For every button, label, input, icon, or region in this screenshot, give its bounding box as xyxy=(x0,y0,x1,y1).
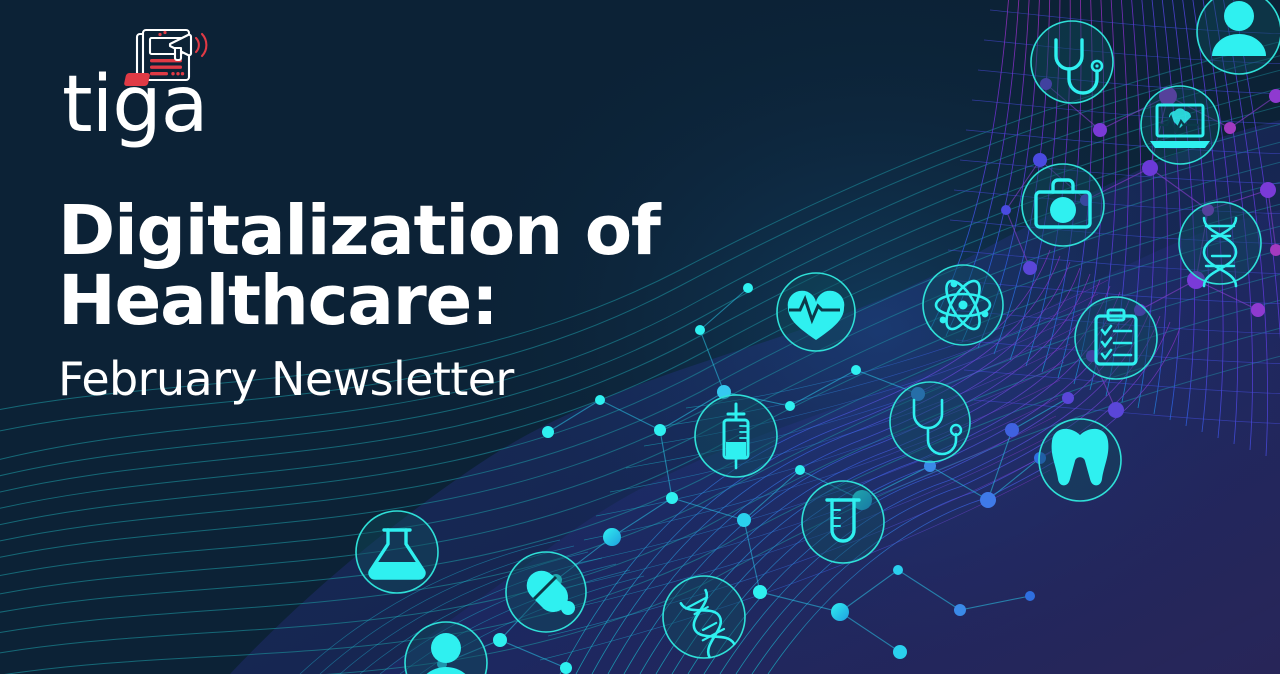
brand-accent-dot xyxy=(124,73,151,86)
laptop-heartbeat-icon xyxy=(1141,86,1219,164)
newsletter-banner: .bub{fill:#0f4b5c;fill-opacity:0.45;stro… xyxy=(0,0,1280,674)
page-title: Digitalization of Healthcare: xyxy=(58,196,678,336)
heart-pulse-icon xyxy=(777,273,855,351)
clipboard-check-icon xyxy=(1075,297,1157,379)
dna-icon xyxy=(1179,202,1261,286)
test-tube-icon xyxy=(802,481,884,563)
brand-logo[interactable]: tiga xyxy=(62,14,292,144)
user-icon xyxy=(1197,0,1280,74)
headline-block: Digitalization of Healthcare: February N… xyxy=(58,196,678,408)
atom-icon xyxy=(923,265,1003,345)
flask-icon xyxy=(356,511,438,593)
tooth-icon xyxy=(1039,419,1121,501)
stethoscope-icon-2 xyxy=(890,382,970,462)
dna-icon-2 xyxy=(663,576,745,658)
stethoscope-icon xyxy=(1031,21,1113,103)
user-icon-2 xyxy=(405,622,487,674)
page-subtitle: February Newsletter xyxy=(58,350,678,408)
syringe-icon xyxy=(695,395,777,477)
pill-capsule-icon xyxy=(506,552,586,632)
medical-bag-icon xyxy=(1022,164,1104,246)
brand-wordmark: tiga xyxy=(62,66,208,144)
